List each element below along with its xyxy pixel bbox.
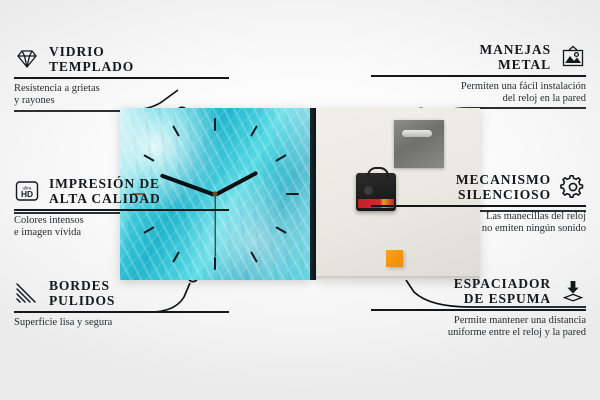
infographic-canvas: VIDRIO TEMPLADO Resistencia a grietas y … <box>0 0 600 400</box>
picture-hanger-icon <box>560 45 586 69</box>
foam-spacer-icon <box>560 279 586 303</box>
feature-subtitle-line: Superficie lisa y segura <box>14 317 229 330</box>
feature-title-line: DE ESPUMA <box>454 291 551 306</box>
polished-edge-icon <box>14 281 40 305</box>
hanger-slot <box>402 130 432 137</box>
divider <box>371 75 586 77</box>
feature-title-line: MECANISMO <box>456 172 551 187</box>
feature-title-line: ESPACIADOR <box>454 276 551 291</box>
feature-subtitle-line: Resistencia a grietas <box>14 83 229 96</box>
feature-title-line: ALTA CALIDAD <box>49 191 161 206</box>
feature-bordes-pulidos: BORDES PULIDOS Superficie lisa y segura <box>14 278 229 329</box>
feature-subtitle-line: del reloj en la pared <box>371 93 586 106</box>
feature-subtitle-line: Permite mantener una distancia <box>371 315 586 328</box>
feature-subtitle-line: e imagen vívida <box>14 227 229 240</box>
divider <box>371 205 586 207</box>
divider <box>371 309 586 311</box>
feature-subtitle-line: Permiten una fácil instalación <box>371 81 586 94</box>
ultra-hd-badge-icon: ultra HD <box>14 179 40 203</box>
feature-title-line: MANEJAS <box>479 42 551 57</box>
feature-mecanismo-silencioso: MECANISMO SILENCIOSO Las manecillas del … <box>371 172 586 236</box>
feature-subtitle-line: no emiten ningún sonido <box>371 223 586 236</box>
metal-hanger-bracket <box>394 120 444 168</box>
feature-title-line: METAL <box>479 57 551 72</box>
feature-subtitle-line: y rayones <box>14 95 229 108</box>
divider <box>14 77 229 79</box>
divider <box>14 209 229 211</box>
feature-espaciador-espuma: ESPACIADOR DE ESPUMA Permite mantener un… <box>371 276 586 340</box>
badge-large-text: HD <box>21 189 33 199</box>
feature-title-line: BORDES <box>49 278 115 293</box>
feature-title-line: PULIDOS <box>49 293 115 308</box>
feature-title-line: SILENCIOSO <box>456 187 551 202</box>
feature-subtitle-line: Colores intensos <box>14 215 229 228</box>
feature-title-line: TEMPLADO <box>49 59 134 74</box>
gear-icon <box>560 175 586 199</box>
feature-manejas-metal: MANEJAS METAL Permiten una fácil instala… <box>371 42 586 106</box>
feature-subtitle-line: Las manecillas del reloj <box>371 211 586 224</box>
feature-title-line: IMPRESIÓN DE <box>49 176 161 191</box>
feature-vidrio-templado: VIDRIO TEMPLADO Resistencia a grietas y … <box>14 44 229 108</box>
feature-impresion-alta-calidad: ultra HD IMPRESIÓN DE ALTA CALIDAD Color… <box>14 176 229 240</box>
feature-subtitle-line: uniforme entre el reloj y la pared <box>371 327 586 340</box>
divider <box>14 311 229 313</box>
foam-spacer <box>386 250 403 267</box>
feature-title-line: VIDRIO <box>49 44 134 59</box>
clock-center-pin <box>213 192 218 197</box>
diamond-icon <box>14 47 40 71</box>
